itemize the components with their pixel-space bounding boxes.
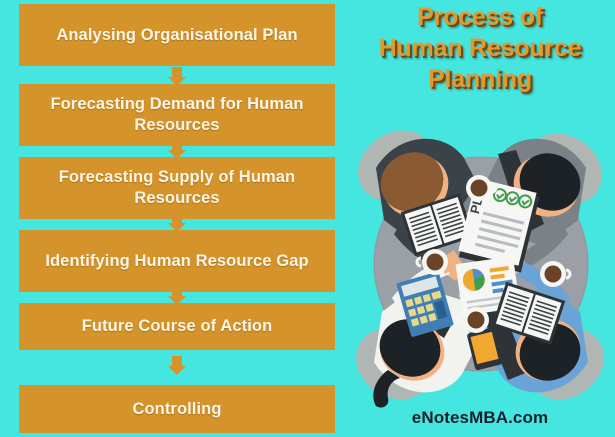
flow-step-5-label: Future Course of Action [82,316,273,337]
flow-step-5: Future Course of Action [19,303,335,350]
page-title-line-3: Planning [345,64,615,95]
flow-step-1-label: Analysing Organisational Plan [56,25,297,46]
flow-step-3: Forecasting Supply of Human Resources [19,157,335,219]
flow-step-1: Analysing Organisational Plan [19,4,335,66]
infographic-canvas: Analysing Organisational Plan Forecastin… [0,0,615,437]
flow-step-4: Identifying Human Resource Gap [19,230,335,292]
team-meeting-illustration: PLAN [348,124,615,409]
process-flowchart: Analysing Organisational Plan Forecastin… [19,4,335,433]
page-title: Process of Human Resource Planning [345,2,615,95]
flow-step-6: Controlling [19,385,335,433]
flow-step-2: Forecasting Demand for Human Resources [19,84,335,146]
flow-step-6-label: Controlling [132,399,221,420]
flow-step-2-label: Forecasting Demand for Human Resources [27,94,327,136]
flow-step-4-label: Identifying Human Resource Gap [45,251,308,272]
page-title-line-1: Process of [345,2,615,33]
page-title-line-2: Human Resource [345,33,615,64]
brand-watermark: eNotesMBA.com [345,408,615,428]
flow-step-3-label: Forecasting Supply of Human Resources [27,167,327,209]
